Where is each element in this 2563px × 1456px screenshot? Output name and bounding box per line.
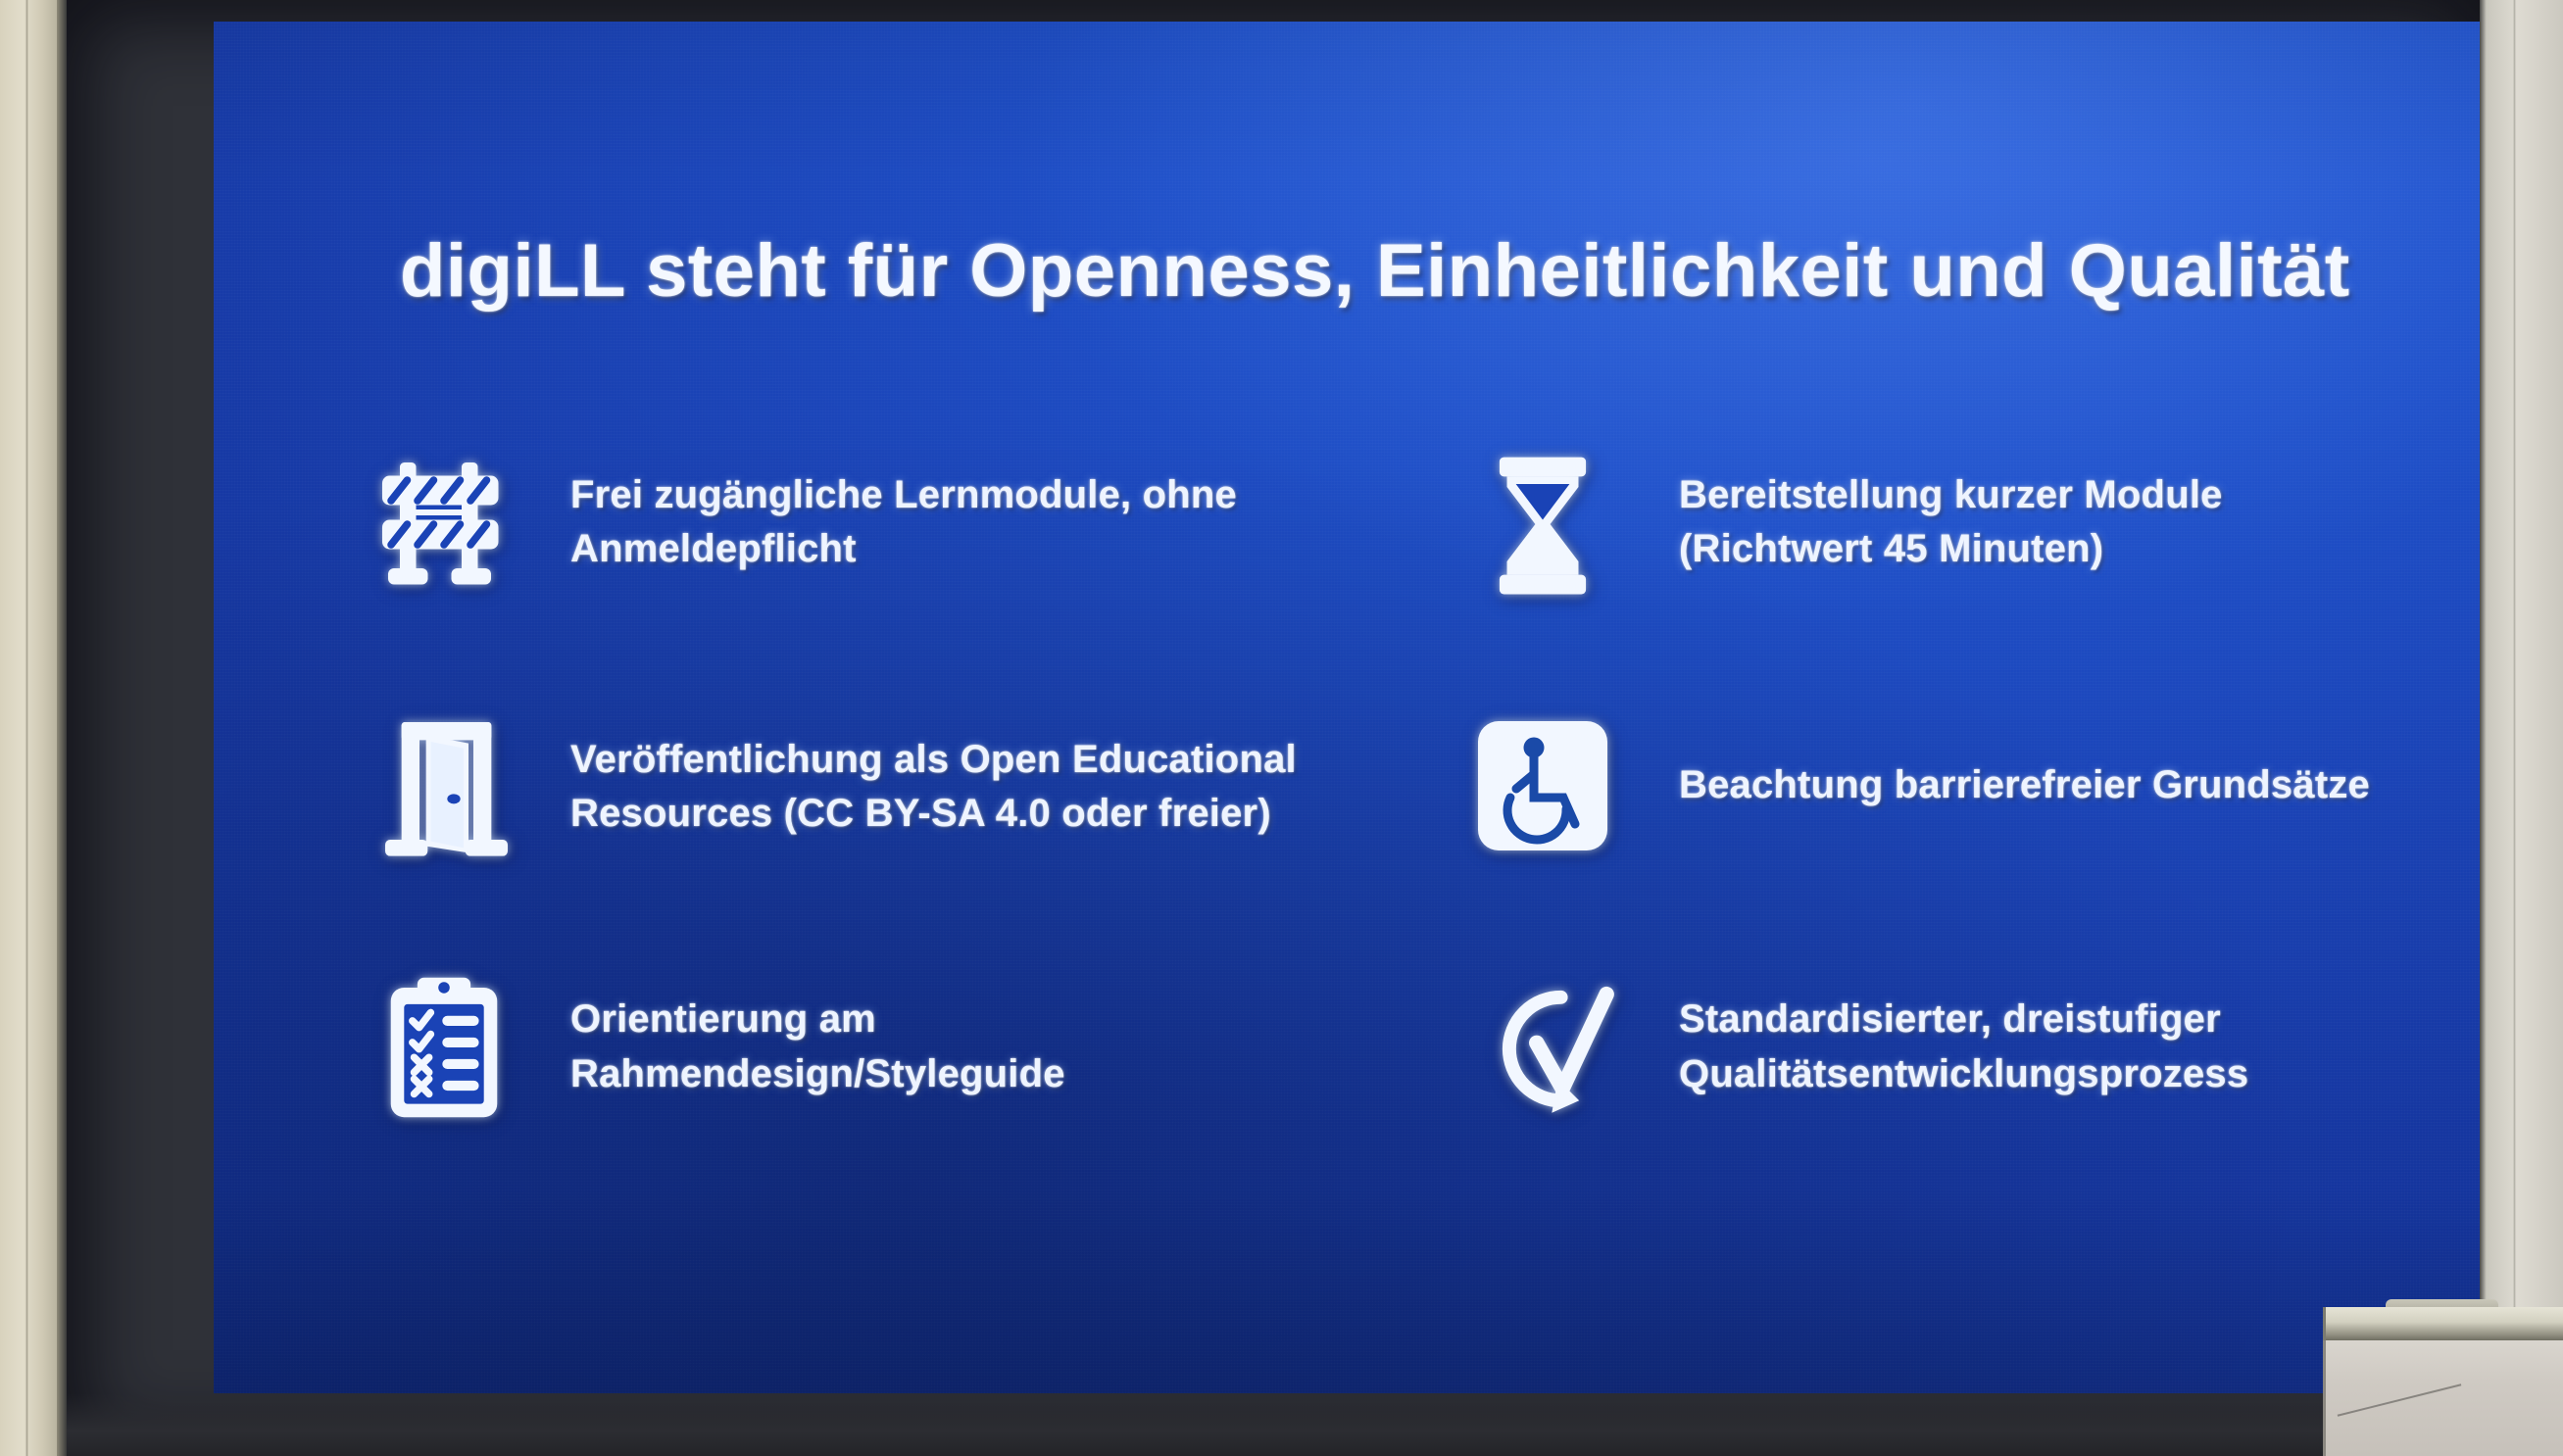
wall-right-seam (2513, 0, 2516, 1456)
cycle-check-icon (1459, 959, 1626, 1136)
flipchart-board (2323, 1307, 2563, 1456)
slide-content: digiLL steht für Openness, Einheitlichke… (214, 22, 2512, 1393)
bullet-text: Frei zugängliche Lernmodule, ohne Anmeld… (570, 468, 1355, 576)
bullet-item-qualitaetsentwicklungsprozess: Standardisierter, dreistufiger Qualitäts… (1424, 916, 2419, 1178)
bullet-text: Veröffentlichung als Open Educational Re… (570, 733, 1355, 841)
wall-left-edge (57, 0, 67, 1456)
bullet-text: Bereitstellung kurzer Module (Richtwert … (1679, 468, 2419, 576)
bullet-item-veroeffentlichung-oer: Veröffentlichung als Open Educational Re… (361, 655, 1355, 917)
bullet-text: Orientierung am Rahmendesign/Styleguide (570, 993, 1355, 1100)
bullet-item-frei-zugaengliche: Frei zugängliche Lernmodule, ohne Anmeld… (361, 394, 1355, 655)
flipchart-rail (2323, 1307, 2563, 1340)
page-title: digiLL steht für Openness, Einheitlichke… (400, 232, 2409, 311)
hourglass-icon (1459, 436, 1626, 612)
screen-bottom-shadow (67, 1393, 2480, 1456)
bullet-text: Standardisierter, dreistufiger Qualitäts… (1679, 993, 2419, 1100)
room-background: digiLL steht für Openness, Einheitlichke… (0, 0, 2563, 1456)
presentation-slide: digiLL steht für Openness, Einheitlichke… (214, 22, 2512, 1393)
wall-left-seam (25, 0, 28, 1456)
projection-screen-bezel: digiLL steht für Openness, Einheitlichke… (67, 0, 2480, 1456)
bullet-text: Beachtung barrierefreier Grundsätze (1679, 758, 2370, 812)
open-door-icon (361, 698, 527, 874)
flipchart-crease (2338, 1383, 2462, 1416)
wall-left-strip (0, 0, 57, 1456)
bullet-grid: Frei zugängliche Lernmodule, ohne Anmeld… (361, 394, 2419, 1178)
clipboard-checklist-icon (361, 959, 527, 1136)
flipchart-paper (2323, 1340, 2563, 1456)
bullet-item-rahmendesign-styleguide: Orientierung am Rahmendesign/Styleguide (361, 916, 1355, 1178)
bullet-item-bereitstellung-kurzer-module: Bereitstellung kurzer Module (Richtwert … (1424, 394, 2419, 655)
wheelchair-accessibility-icon (1459, 698, 1626, 874)
barrier-icon (361, 436, 527, 612)
bullet-item-barrierefreiheit: Beachtung barrierefreier Grundsätze (1424, 655, 2419, 917)
